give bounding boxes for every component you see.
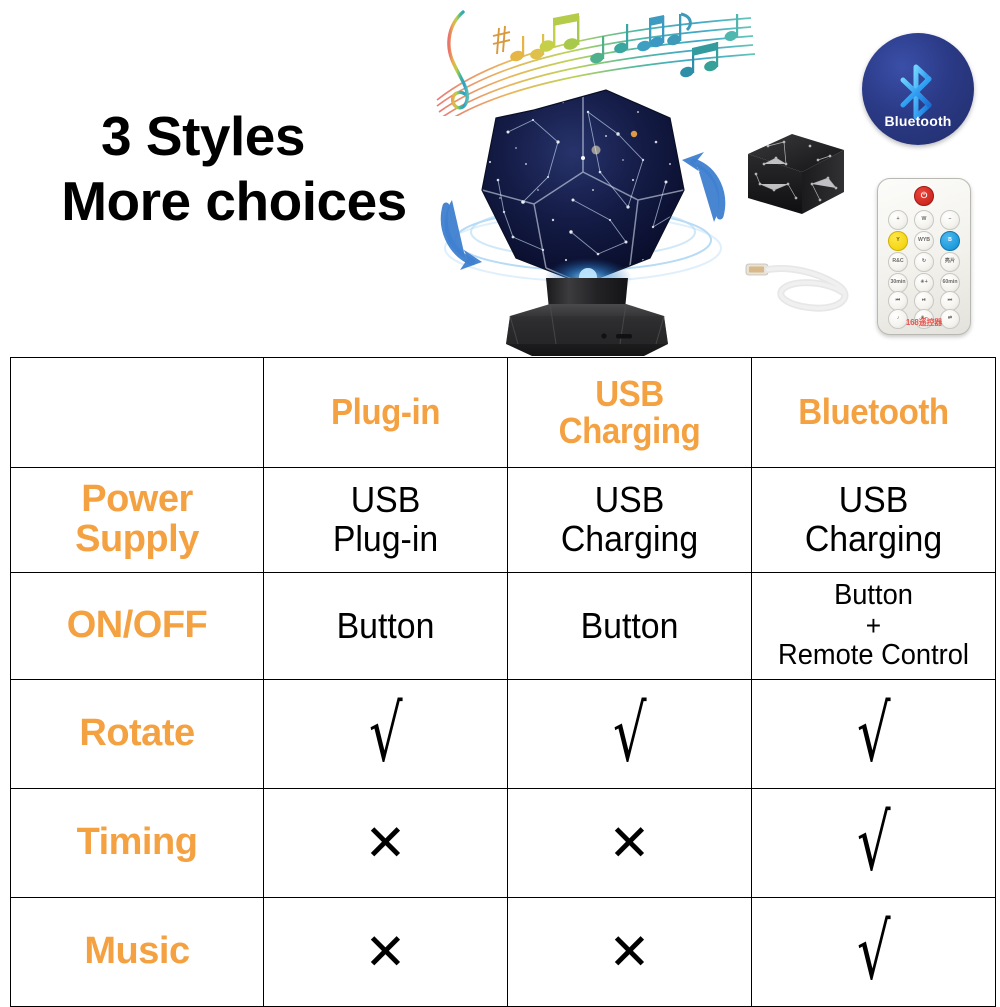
row-label-rotate-line1: Rotate — [11, 714, 263, 754]
row-label-timing: Timing — [11, 789, 264, 898]
cell-onoff-plug-in-line1: Button — [271, 607, 499, 646]
cross-icon: ✕ — [609, 818, 651, 868]
column-header-usb-charging-line1: USB — [518, 376, 742, 413]
row-label-music-line1: Music — [11, 932, 263, 972]
constellation-gift-box-icon — [740, 128, 850, 223]
remote-button-y[interactable]: Y — [888, 231, 908, 251]
cell-power-usb-charging-line1: USB — [515, 481, 743, 520]
remote-button-30min[interactable]: 30min — [888, 273, 908, 293]
cell-onoff-bluetooth-line3: Remote Control — [759, 640, 987, 672]
cell-timing-usb-charging: ✕ — [508, 789, 752, 898]
cell-timing-bluetooth: √ — [752, 789, 996, 898]
column-header-plug-in: Plug-in — [264, 358, 508, 468]
bluetooth-badge: Bluetooth — [862, 33, 974, 145]
cell-onoff-bluetooth-line2: + — [759, 612, 987, 640]
cell-onoff-usb-charging-line1: Button — [515, 607, 743, 646]
cell-rotate-bluetooth: √ — [752, 680, 996, 789]
cell-onoff-usb-charging: Button — [508, 573, 752, 680]
table-row-power-supply: Power Supply USB Plug-in USB Charging US… — [11, 468, 996, 573]
table-row-on-off: ON/OFF Button Button Button + Remote Con… — [11, 573, 996, 680]
cell-power-plug-in-line2: Plug-in — [271, 520, 499, 559]
column-header-usb-charging-line2: Charging — [518, 413, 742, 450]
star-projector-lamp — [438, 72, 728, 357]
column-header-bluetooth-line1: Bluetooth — [798, 391, 948, 432]
table-row-rotate: Rotate √ √ √ — [11, 680, 996, 789]
cell-power-usb-charging-line2: Charging — [515, 520, 743, 559]
cell-power-bluetooth: USB Charging — [752, 468, 996, 573]
column-header-usb-charging: USB Charging — [508, 358, 752, 468]
remote-button-minus[interactable]: – — [940, 210, 960, 230]
remote-power-button[interactable]: ⏻ — [914, 186, 934, 206]
remote-button-rotate[interactable]: ↻ — [914, 252, 934, 272]
check-icon: √ — [857, 913, 891, 991]
cell-rotate-plug-in: √ — [264, 680, 508, 789]
table-row-music: Music ✕ ✕ √ — [11, 898, 996, 1007]
remote-button-b[interactable]: B — [940, 231, 960, 251]
table-row-timing: Timing ✕ ✕ √ — [11, 789, 996, 898]
remote-button-bright[interactable]: 亮片 — [940, 252, 960, 272]
page-title: 3 Styles More choices — [34, 104, 434, 234]
cell-power-bluetooth-line1: USB — [759, 481, 987, 520]
remote-button-prev[interactable]: ⏮ — [888, 291, 908, 311]
cell-rotate-usb-charging: √ — [508, 680, 752, 789]
cell-power-usb-charging: USB Charging — [508, 468, 752, 573]
headline-line-2: More choices — [34, 169, 434, 234]
cross-icon: ✕ — [609, 927, 651, 977]
headline-line-1: 3 Styles — [34, 104, 434, 169]
row-label-power-supply-line2: Supply — [11, 520, 263, 560]
cell-onoff-plug-in: Button — [264, 573, 508, 680]
row-label-rotate: Rotate — [11, 680, 264, 789]
cell-music-bluetooth: √ — [752, 898, 996, 1007]
cell-music-plug-in: ✕ — [264, 898, 508, 1007]
remote-button-bright-up[interactable]: ☀+ — [914, 273, 934, 293]
row-label-music: Music — [11, 898, 264, 1007]
bluetooth-badge-label: Bluetooth — [862, 113, 974, 129]
remote-control: ⏻ + W – Y WYB B R&C ↻ 亮片 30min ☀+ 60min … — [877, 178, 971, 335]
remote-model-label: 168遥控器 — [878, 317, 970, 328]
usb-cable-icon — [744, 248, 864, 316]
cross-icon: ✕ — [365, 927, 407, 977]
cell-onoff-bluetooth: Button + Remote Control — [752, 573, 996, 680]
row-label-on-off-line1: ON/OFF — [11, 606, 263, 646]
column-header-bluetooth: Bluetooth — [752, 358, 996, 468]
cross-icon: ✕ — [365, 818, 407, 868]
row-label-power-supply-line1: Power — [11, 480, 263, 520]
remote-button-w[interactable]: W — [914, 210, 934, 230]
table-header-row: Plug-in USB Charging Bluetooth — [11, 358, 996, 468]
check-icon: √ — [369, 695, 403, 773]
check-icon: √ — [613, 695, 647, 773]
table-corner-cell — [11, 358, 264, 468]
remote-button-60min[interactable]: 60min — [940, 273, 960, 293]
cell-timing-plug-in: ✕ — [264, 789, 508, 898]
cell-music-usb-charging: ✕ — [508, 898, 752, 1007]
comparison-table: Plug-in USB Charging Bluetooth Power Sup… — [10, 357, 996, 1007]
remote-button-rc[interactable]: R&C — [888, 252, 908, 272]
check-icon: √ — [857, 804, 891, 882]
row-label-on-off: ON/OFF — [11, 573, 264, 680]
row-label-timing-line1: Timing — [11, 823, 263, 863]
check-icon: √ — [857, 695, 891, 773]
remote-button-plus[interactable]: + — [888, 210, 908, 230]
row-label-power-supply: Power Supply — [11, 468, 264, 573]
column-header-plug-in-line1: Plug-in — [331, 391, 440, 432]
remote-button-next[interactable]: ⏭ — [940, 291, 960, 311]
hero-section: 3 Styles More choices — [0, 0, 1000, 357]
remote-button-wyb[interactable]: WYB — [914, 231, 934, 251]
remote-button-playpause[interactable]: ⏯ — [914, 291, 934, 311]
cell-onoff-bluetooth-line1: Button — [759, 580, 987, 612]
cell-power-plug-in: USB Plug-in — [264, 468, 508, 573]
cell-power-bluetooth-line2: Charging — [759, 520, 987, 559]
cell-power-plug-in-line1: USB — [271, 481, 499, 520]
